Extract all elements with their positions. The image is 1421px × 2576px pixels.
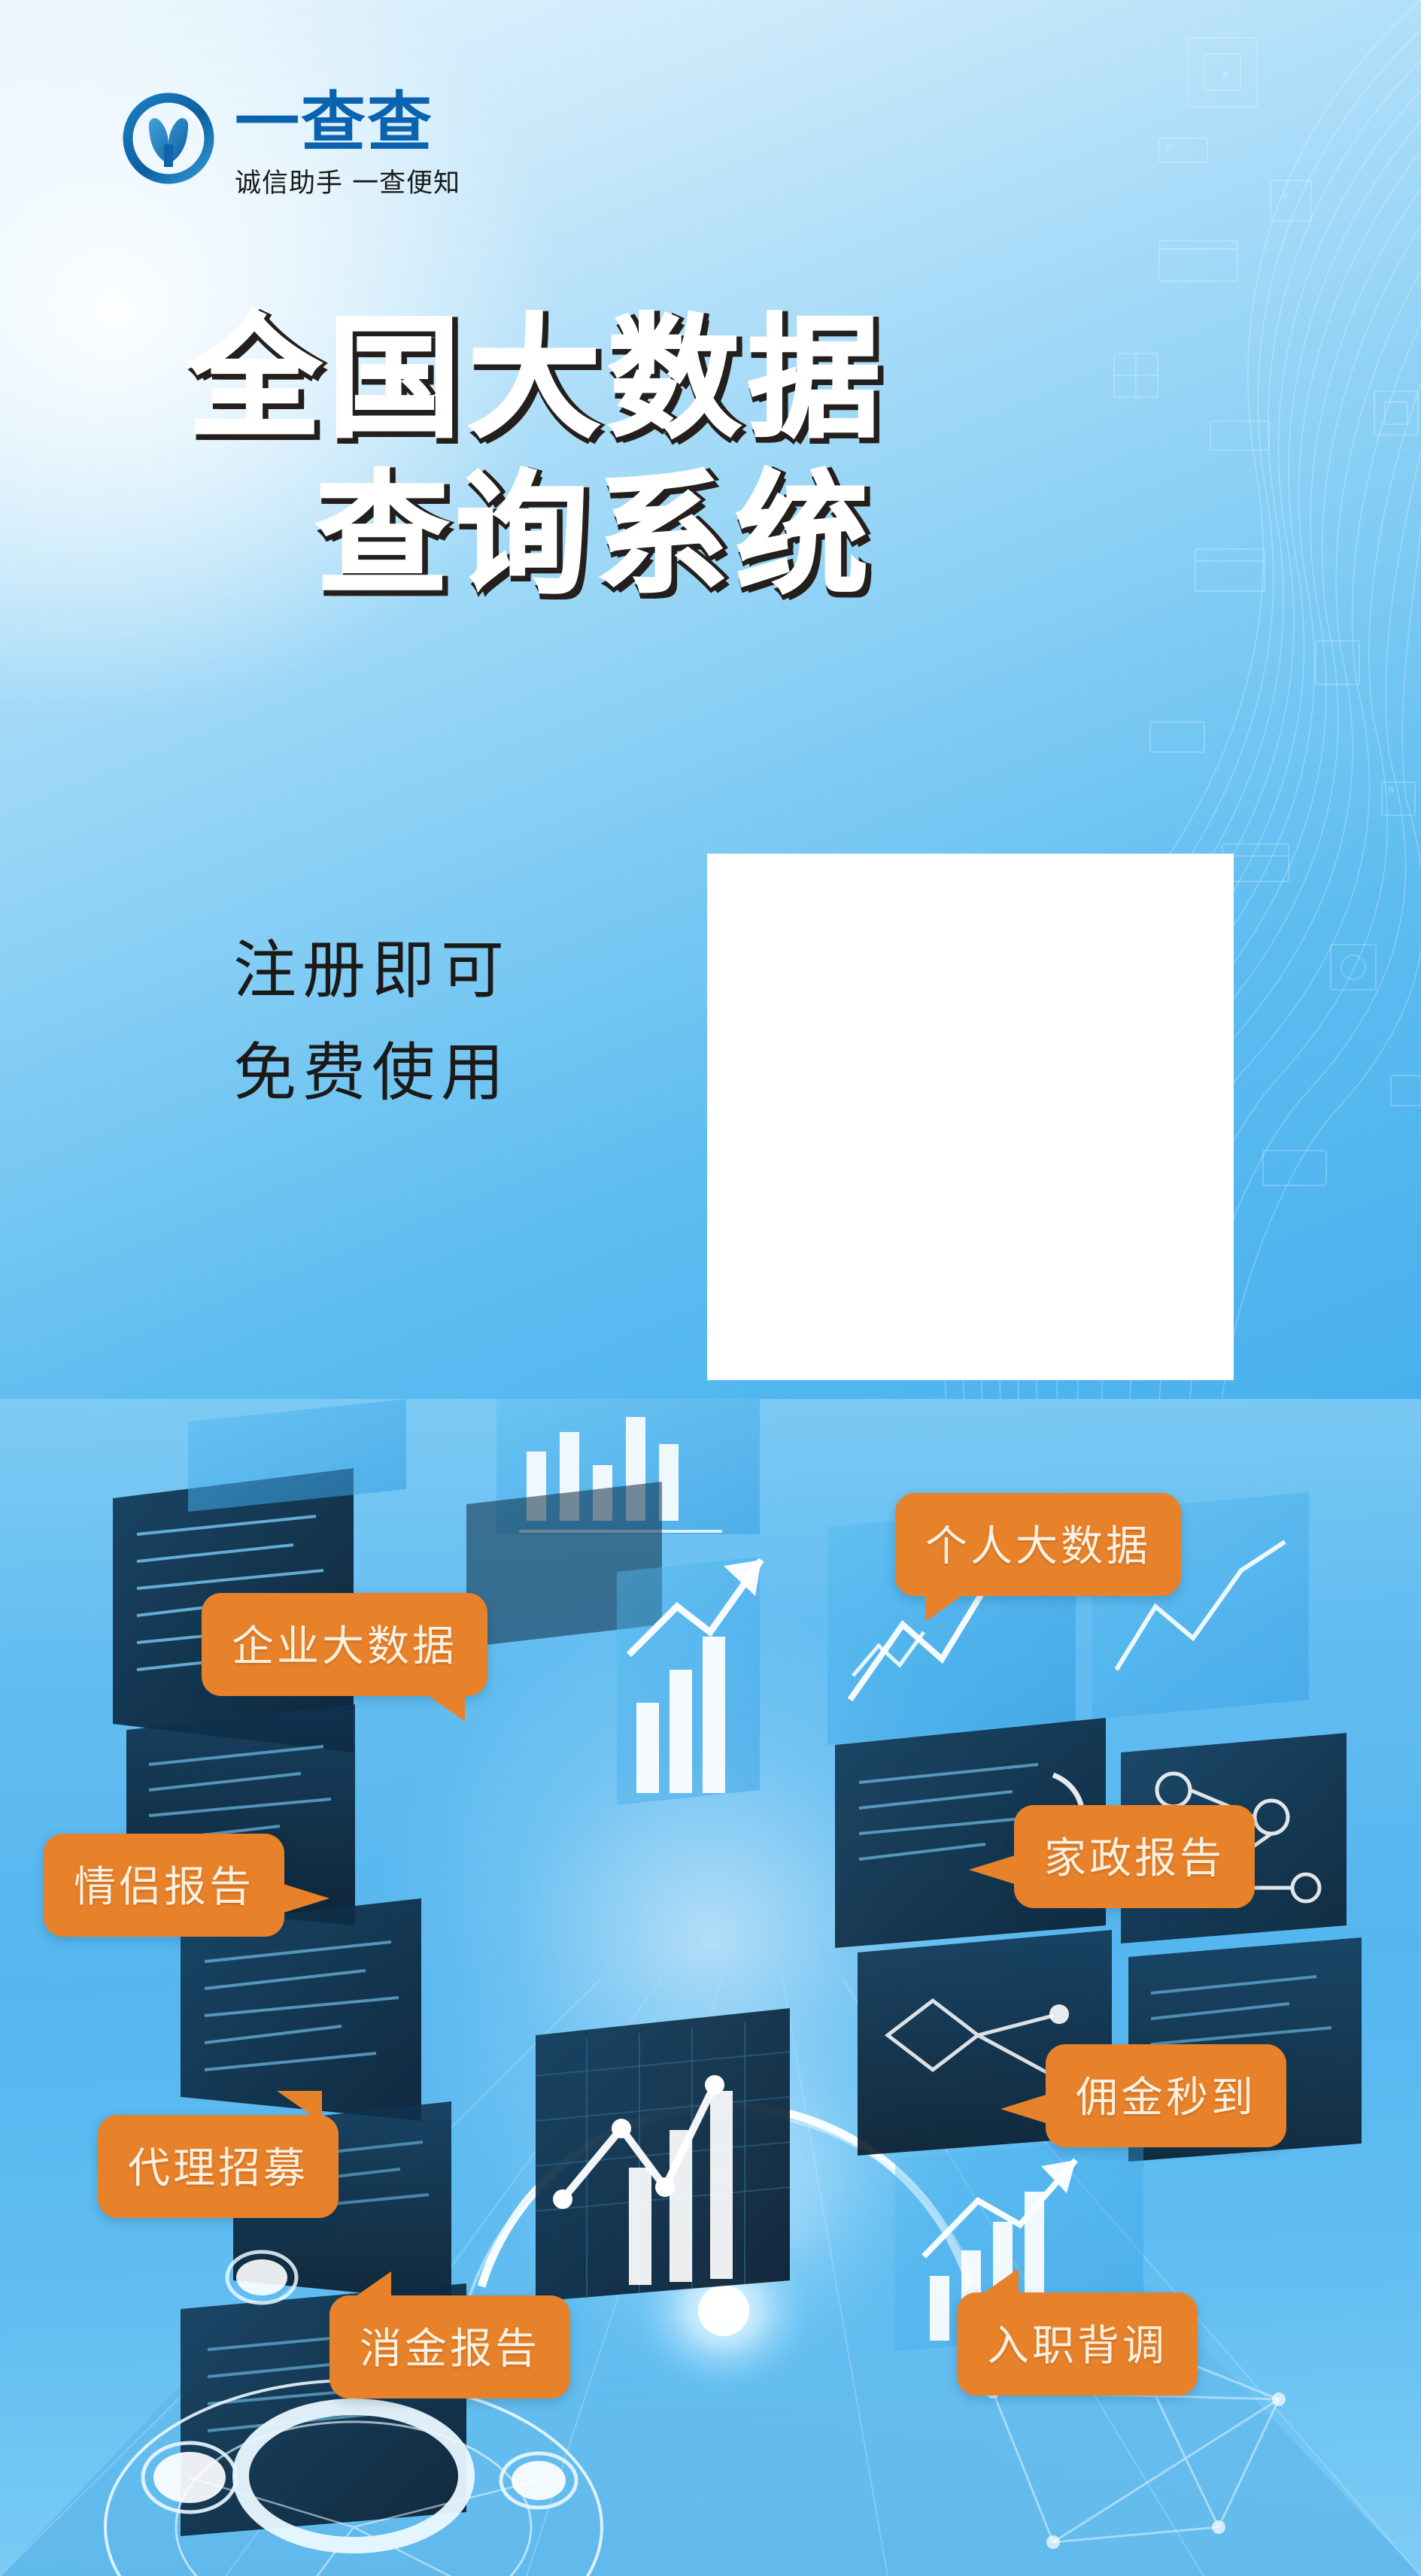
promo-copy: 注册即可 免费使用 (233, 919, 510, 1124)
brand-slogan: 诚信助手 一查便知 (235, 162, 460, 200)
yichacha-logo-icon (119, 89, 218, 188)
tag-instant-commission[interactable]: 佣金秒到 (1046, 2044, 1286, 2147)
qr-code-placeholder[interactable] (707, 854, 1234, 1380)
tag-agent-recruitment[interactable]: 代理招募 (98, 2115, 339, 2218)
tag-company-big-data[interactable]: 企业大数据 (202, 1593, 487, 1696)
headline-line-2: 查询系统 (316, 457, 1421, 614)
big-data-scene-graphic (0, 1399, 1421, 2576)
brand-name: 一查查 (235, 92, 460, 154)
tech-illustration-band (0, 1399, 1421, 2576)
tag-personal-big-data[interactable]: 个人大数据 (895, 1493, 1181, 1596)
tag-consumer-finance-report[interactable]: 消金报告 (329, 2295, 570, 2399)
poster-canvas: 一查查 诚信助手 一查便知 全国大数据 查询系统 注册即可 免费使用 (0, 0, 1421, 2576)
headline-line-1: 全国大数据 (188, 301, 1421, 457)
brand-logo: 一查查 诚信助手 一查便知 (119, 89, 460, 200)
tag-employment-background-check[interactable]: 入职背调 (957, 2292, 1198, 2395)
page-title: 全国大数据 查询系统 (0, 301, 1421, 613)
tag-couple-report[interactable]: 情侣报告 (44, 1834, 284, 1937)
promo-line-2: 免费使用 (233, 1021, 510, 1124)
tag-domestic-service-report[interactable]: 家政报告 (1014, 1805, 1255, 1908)
promo-line-1: 注册即可 (233, 919, 510, 1021)
